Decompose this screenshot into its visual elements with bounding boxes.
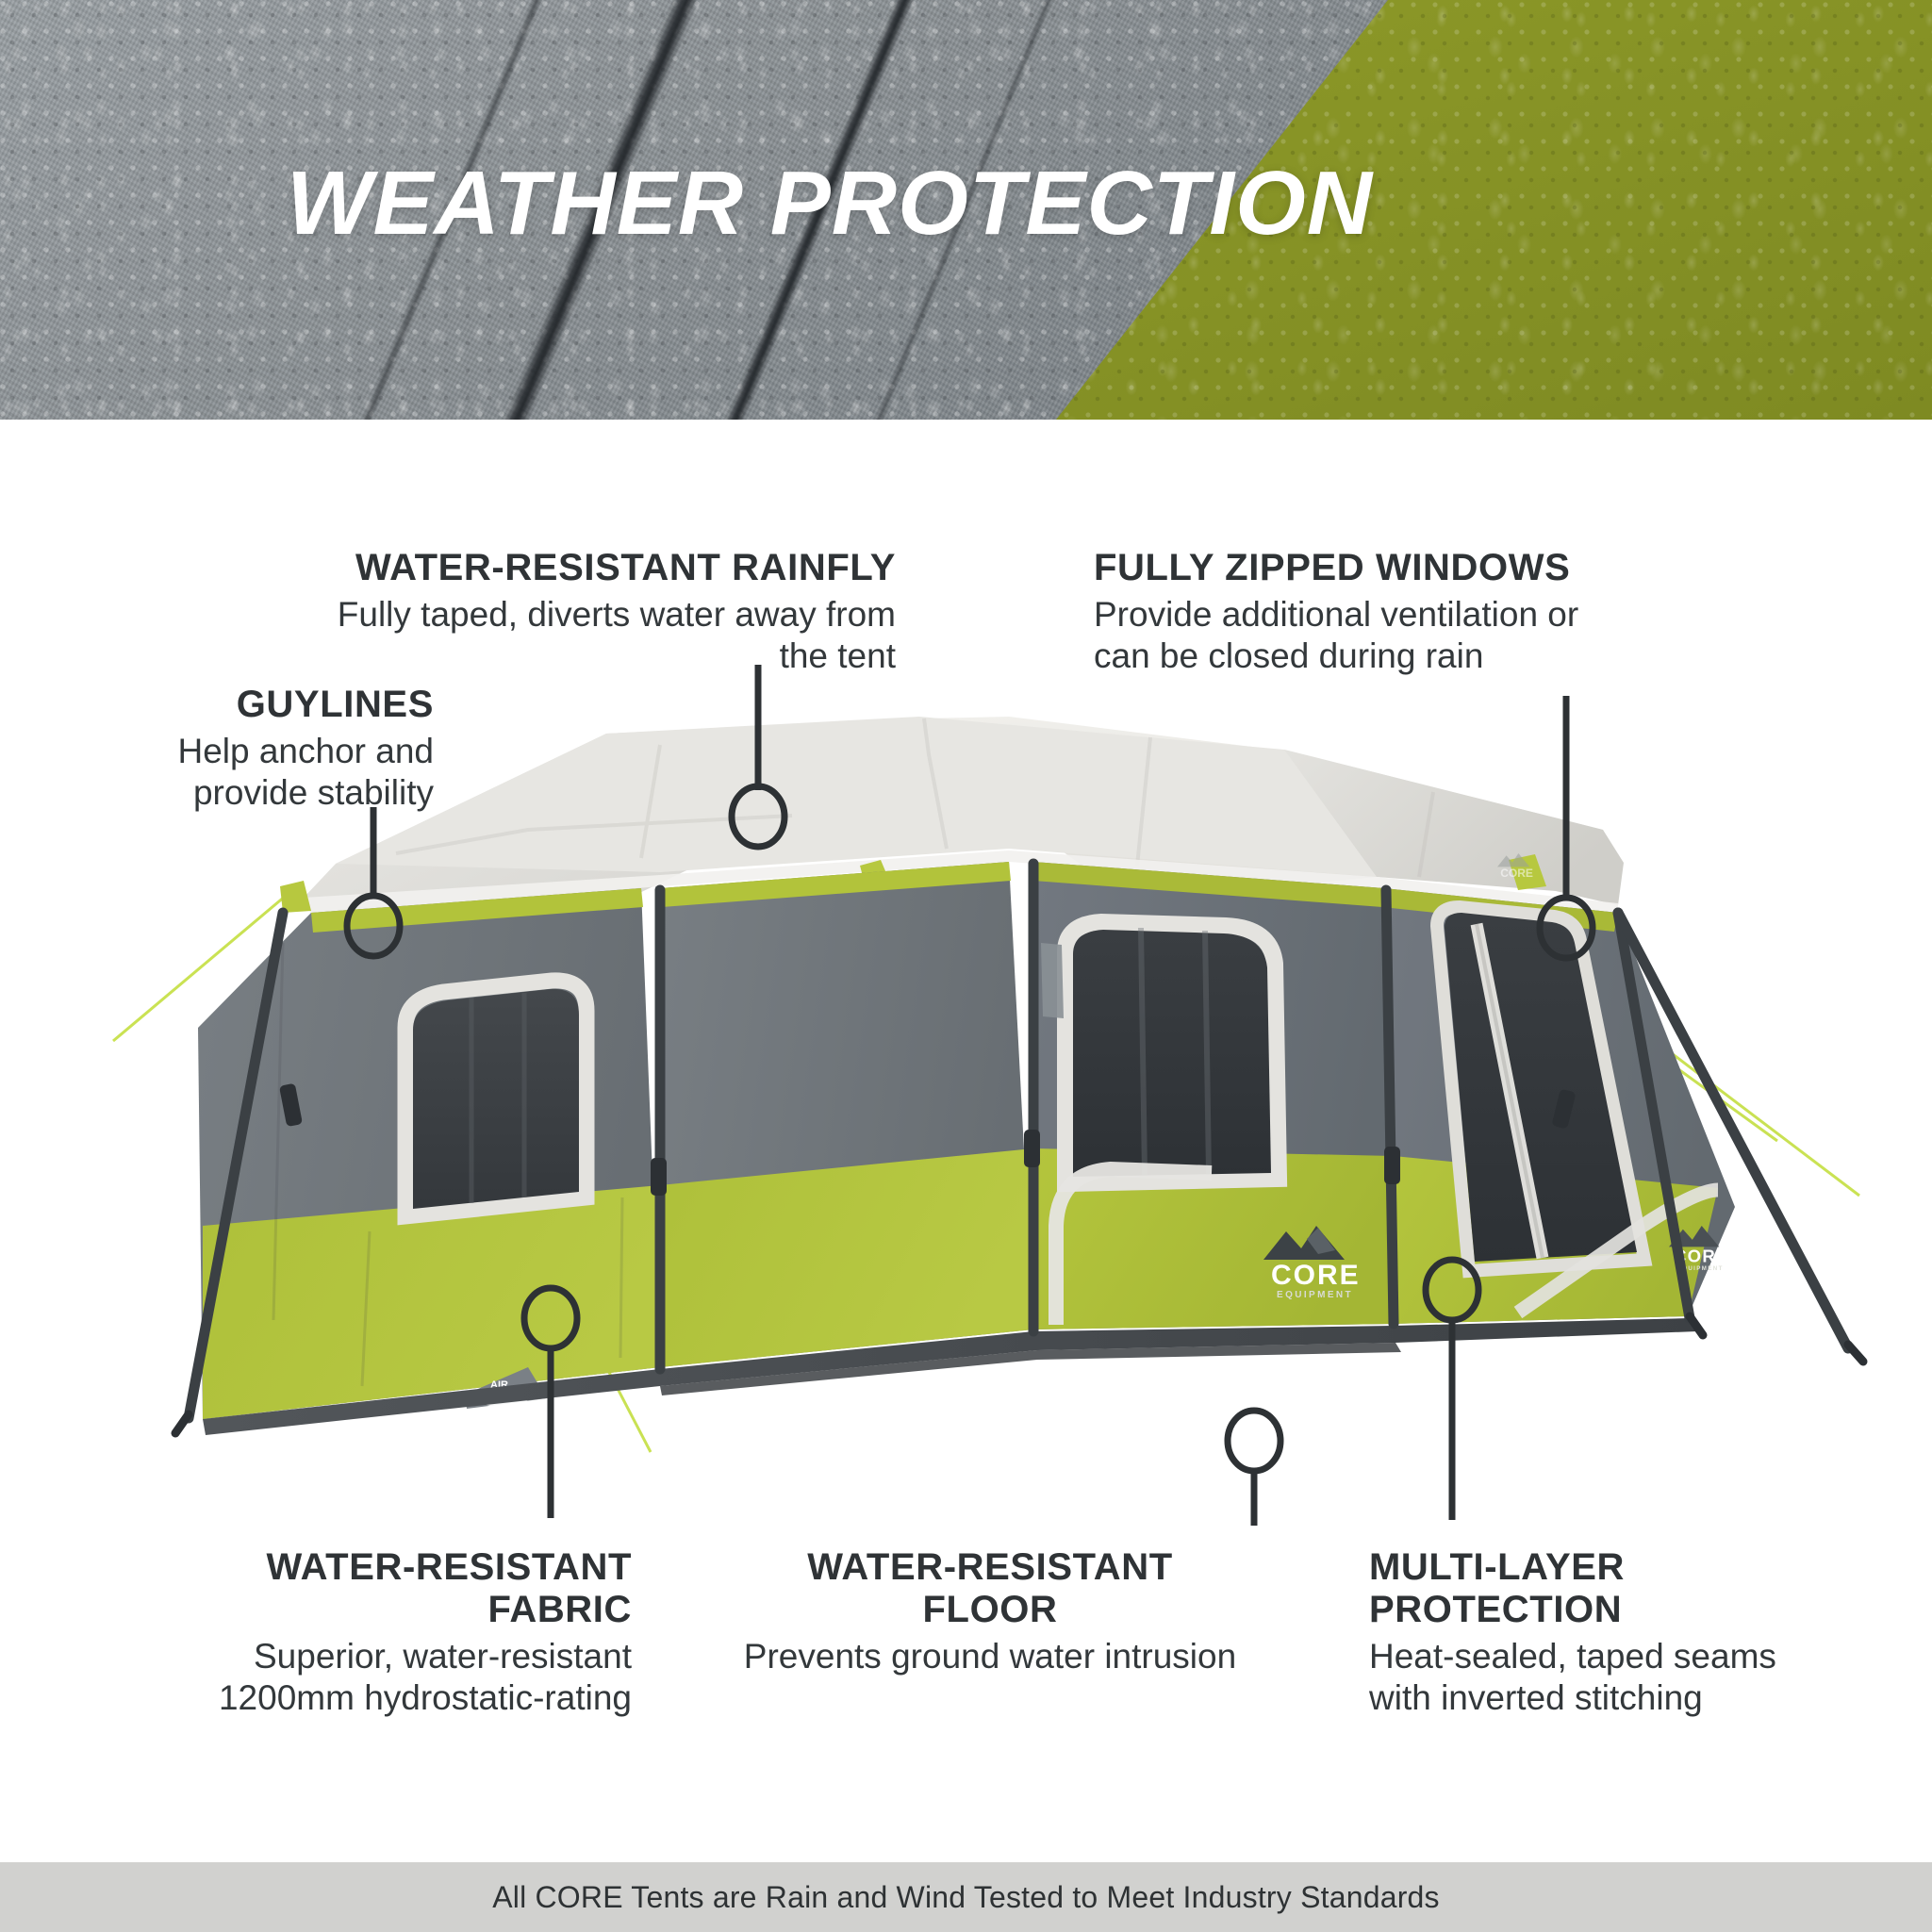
callout-body: Prevents ground water intrusion	[660, 1636, 1320, 1677]
callout-water-resistant-fabric: WATER-RESISTANT FABRIC Superior, water-r…	[104, 1546, 632, 1719]
callout-title: WATER-RESISTANT RAINFLY	[132, 547, 896, 589]
callout-water-resistant-floor: WATER-RESISTANT FLOOR Prevents ground wa…	[660, 1546, 1320, 1677]
callout-title: MULTI-LAYER PROTECTION	[1369, 1546, 1916, 1631]
footer-text: All CORE Tents are Rain and Wind Tested …	[492, 1880, 1440, 1915]
callout-title: GUYLINES	[57, 684, 434, 726]
callout-title: WATER-RESISTANT FLOOR	[660, 1546, 1320, 1631]
svg-text:CORE: CORE	[1500, 867, 1533, 880]
tent-center-wall	[658, 862, 1033, 1369]
callout-body: Help anchor and provide stability	[57, 731, 434, 815]
callout-multi-layer-protection: MULTI-LAYER PROTECTION Heat-sealed, tape…	[1369, 1546, 1916, 1719]
callout-body: Fully taped, diverts water away from the…	[132, 594, 896, 678]
callout-body: Heat-sealed, taped seams with inverted s…	[1369, 1636, 1916, 1720]
tent-door-panel: CORE EQUIPMENT	[1033, 862, 1394, 1329]
callout-title: WATER-RESISTANT FABRIC	[104, 1546, 632, 1631]
callout-title: FULLY ZIPPED WINDOWS	[1094, 547, 1829, 589]
tent-left-wall: AIR INTAKE	[198, 888, 660, 1419]
callout-body: Superior, water-resistant 1200mm hydrost…	[104, 1636, 632, 1720]
infographic-page: WEATHER PROTECTION	[0, 0, 1932, 1932]
callout-water-resistant-rainfly: WATER-RESISTANT RAINFLY Fully taped, div…	[132, 547, 896, 678]
footer-bar: All CORE Tents are Rain and Wind Tested …	[0, 1862, 1932, 1932]
callout-guylines: GUYLINES Help anchor and provide stabili…	[57, 684, 434, 815]
callout-body: Provide additional ventilation or can be…	[1094, 594, 1829, 678]
callout-fully-zipped-windows: FULLY ZIPPED WINDOWS Provide additional …	[1094, 547, 1829, 678]
core-brand-text: CORE	[1271, 1260, 1361, 1291]
core-brand-sub: EQUIPMENT	[1277, 1290, 1353, 1300]
